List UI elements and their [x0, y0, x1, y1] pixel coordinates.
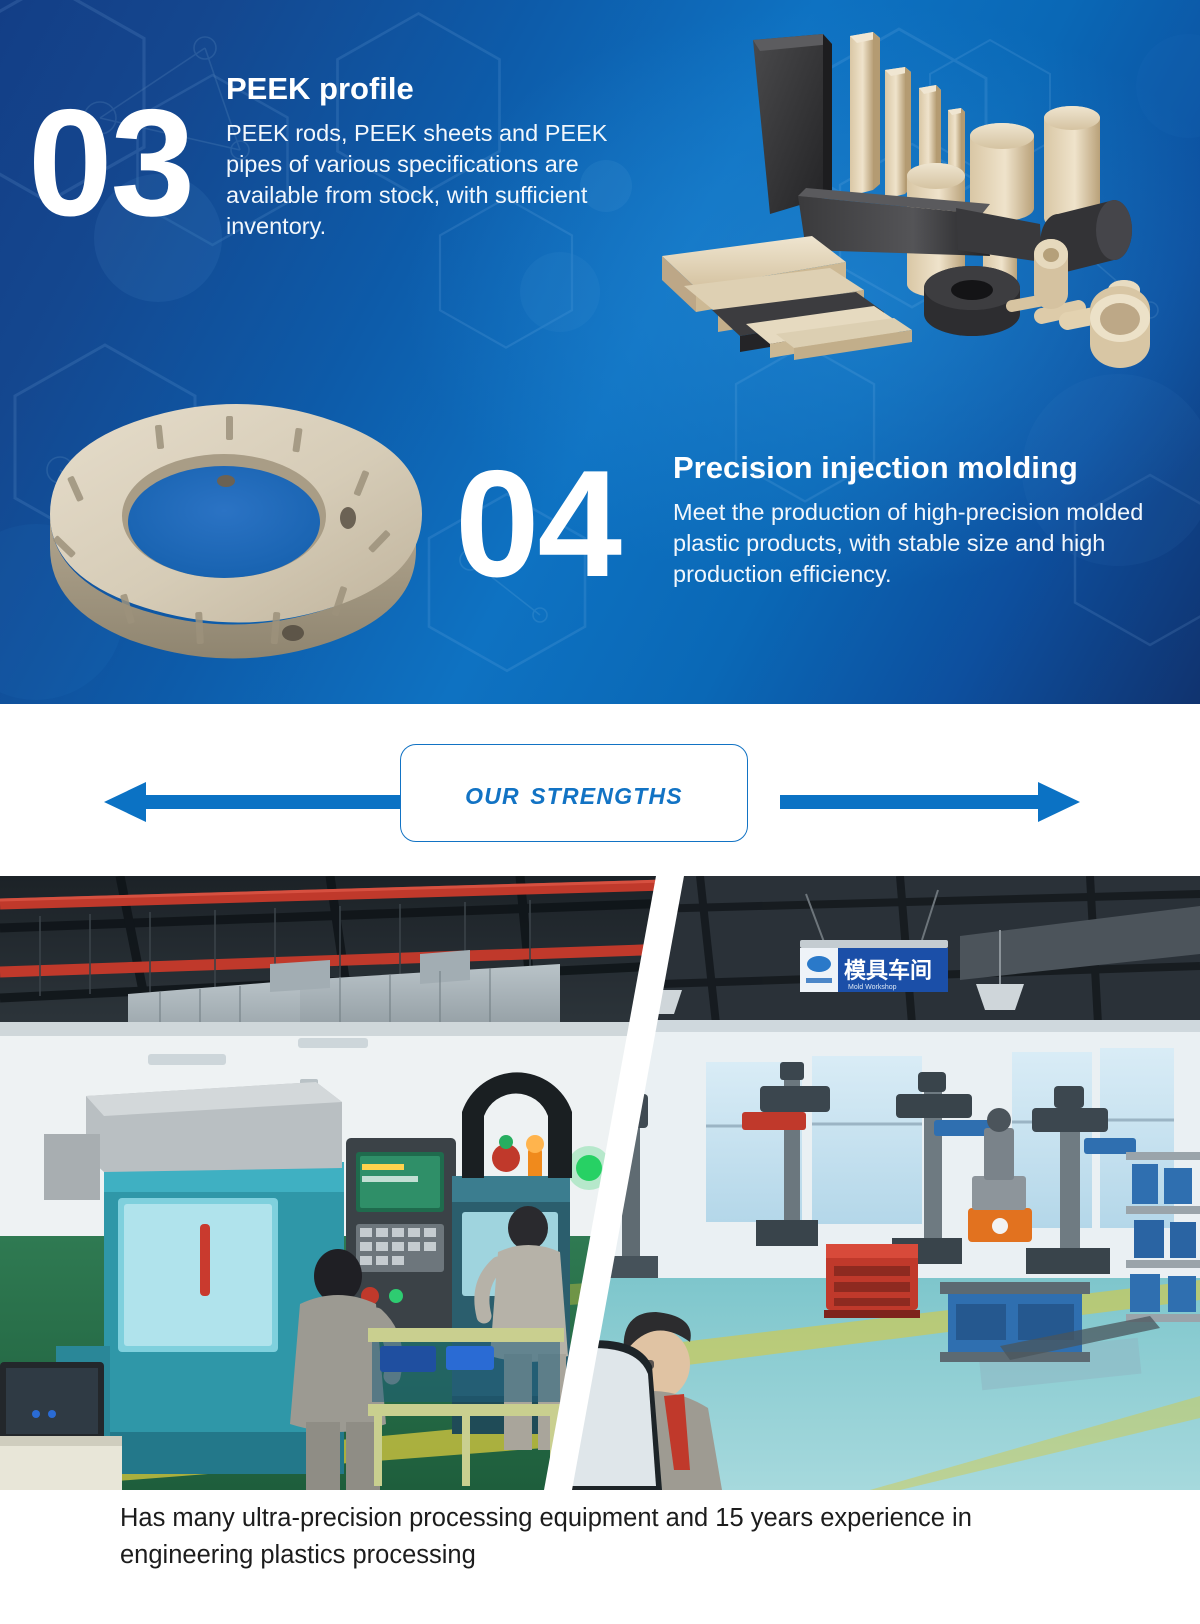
- black-ring: [924, 266, 1020, 336]
- desk-monitor: [0, 1362, 122, 1490]
- svg-text:模具车间: 模具车间: [844, 958, 932, 984]
- hero-item-04-title: Precision injection molding: [673, 451, 1173, 486]
- hero-item-03-number: 03: [28, 94, 193, 234]
- hero-item-03-text: PEEK profile PEEK rods, PEEK sheets and …: [226, 72, 658, 243]
- hero-item-04-text: Precision injection molding Meet the pro…: [673, 451, 1173, 590]
- factory-photos-collage: 模具车间 Mold Workshop: [0, 876, 1200, 1490]
- hero-blue-panel: 03 PEEK profile PEEK rods, PEEK sheets a…: [0, 0, 1200, 704]
- bottom-caption: Has many ultra-precision processing equi…: [0, 1494, 1200, 1624]
- hero-item-03-body: PEEK rods, PEEK sheets and PEEK pipes of…: [226, 118, 658, 243]
- left-arrow-icon: [104, 780, 404, 829]
- caption-text: Has many ultra-precision processing equi…: [120, 1500, 1082, 1573]
- peek-profile-products-photo: [660, 18, 1200, 380]
- our-strengths-label: Our strengths: [465, 774, 683, 812]
- right-arrow-icon: [780, 780, 1080, 829]
- red-tool-cabinet: [824, 1244, 920, 1318]
- hero-item-03: 03 PEEK profile PEEK rods, PEEK sheets a…: [22, 72, 662, 342]
- svg-text:Mold Workshop: Mold Workshop: [848, 984, 897, 991]
- tan-sheets-stack: [662, 236, 912, 360]
- hero-item-04-body: Meet the production of high-precision mo…: [673, 497, 1173, 591]
- page-root: 03 PEEK profile PEEK rods, PEEK sheets a…: [0, 0, 1200, 1624]
- black-block: [753, 34, 832, 214]
- gear-bore: [122, 454, 326, 578]
- our-strengths-box: Our strengths: [400, 744, 748, 842]
- peek-gear-ring-photo: [28, 398, 438, 680]
- hero-item-04-number: 04: [455, 455, 620, 595]
- hero-item-03-title: PEEK profile: [226, 72, 658, 107]
- hero-item-04: 04 Precision injection molding Meet the …: [455, 445, 1175, 675]
